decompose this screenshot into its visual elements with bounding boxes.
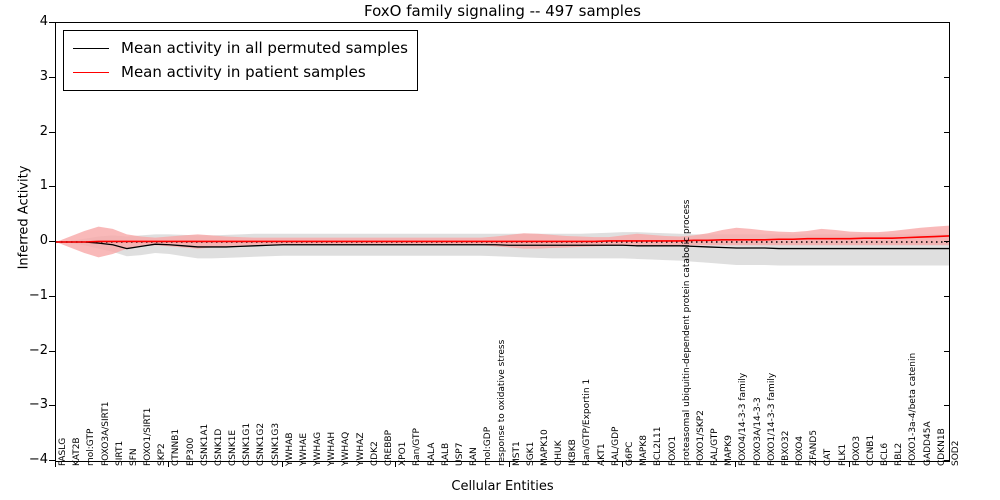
x-tick-label: CREBBP <box>385 430 394 466</box>
x-tick-label: AKT1 <box>598 443 607 466</box>
x-axis-title: Cellular Entities <box>55 479 950 494</box>
x-tick-label: RAN <box>470 447 479 466</box>
x-tick-label: YWHAH <box>328 432 337 466</box>
x-tick-mark <box>168 462 169 467</box>
y-tick-mark <box>49 460 55 461</box>
x-tick-label: RAL/GTP <box>711 428 720 466</box>
x-tick-mark <box>849 462 850 467</box>
x-tick-label: CDKN1B <box>938 428 947 466</box>
x-tick-label: G6PC <box>626 442 635 466</box>
y-tick-mark-right <box>944 296 950 297</box>
x-tick-label: YWHAQ <box>342 432 351 466</box>
x-tick-label: RBL2 <box>895 443 904 466</box>
x-tick-label: mol:GTP <box>87 429 96 466</box>
y-tick-mark-right <box>944 22 950 23</box>
x-tick-label: FOXO3A/14-3-3 <box>754 397 763 466</box>
legend-item-permuted: Mean activity in all permuted samples <box>73 36 408 60</box>
x-tick-label: CSNK1G1 <box>243 423 252 466</box>
x-tick-label: MST1 <box>513 441 522 466</box>
x-tick-label: XPO1 <box>399 442 408 466</box>
x-tick-label: CTNNB1 <box>172 429 181 466</box>
x-tick-label: CSNK1G3 <box>272 423 281 466</box>
x-tick-label: RALA <box>428 443 437 466</box>
x-tick-label: FOXO4/14-3-3 family <box>739 373 748 466</box>
x-tick-label: MAPK8 <box>640 435 649 466</box>
y-tick-label: −2 <box>8 344 48 357</box>
x-tick-label: CSNK1A1 <box>201 424 210 466</box>
x-tick-label: CAT <box>824 449 833 466</box>
y-tick-mark <box>49 351 55 352</box>
x-tick-label: CCNB1 <box>867 435 876 466</box>
legend-label-patient: Mean activity in patient samples <box>121 65 366 80</box>
chart-legend: Mean activity in all permuted samples Me… <box>63 30 418 91</box>
y-tick-mark <box>49 77 55 78</box>
y-axis-title: Inferred Activity <box>17 0 32 438</box>
legend-item-patient: Mean activity in patient samples <box>73 60 408 84</box>
y-tick-mark-right <box>944 351 950 352</box>
x-tick-label: YWHAZ <box>357 433 366 467</box>
legend-swatch-red-line-icon <box>73 72 109 73</box>
x-tick-label: RALB <box>442 443 451 466</box>
y-tick-mark-right <box>944 241 950 242</box>
x-tick-label: YWHAE <box>300 433 309 466</box>
x-tick-label: mol:GDP <box>484 427 493 466</box>
x-tick-label: MAPK10 <box>541 429 550 466</box>
x-tick-label: IKBKB <box>569 439 578 466</box>
chart-title: FoxO family signaling -- 497 samples <box>55 2 950 20</box>
x-tick-label: USP7 <box>456 443 465 466</box>
x-tick-mark <box>622 462 623 467</box>
x-tick-label: GADD45A <box>924 421 933 466</box>
x-tick-label: SIRT1 <box>116 441 125 466</box>
y-tick-mark-right <box>944 77 950 78</box>
x-tick-label: FOXO3 <box>853 436 862 466</box>
y-tick-label: 1 <box>8 179 48 192</box>
x-tick-label: FOXO1/SIRT1 <box>144 408 153 466</box>
x-tick-mark <box>735 462 736 467</box>
y-tick-mark <box>49 132 55 133</box>
y-tick-mark <box>49 241 55 242</box>
x-tick-label: PLK1 <box>839 444 848 466</box>
y-tick-mark-right <box>944 186 950 187</box>
x-tick-label: response to oxidative stress <box>498 340 507 466</box>
x-tick-label: FOXO3A/SIRT1 <box>102 402 111 466</box>
chart-figure: FoxO family signaling -- 497 samples Mea… <box>0 0 1000 500</box>
x-tick-label: CSNK1D <box>215 429 224 466</box>
x-tick-label: Ran/GTP/Exportin 1 <box>583 379 592 466</box>
x-tick-label: FOXO1/SKP2 <box>697 410 706 466</box>
x-tick-label: YWHAB <box>286 433 295 467</box>
y-tick-label: 4 <box>8 15 48 28</box>
x-tick-label: CDK2 <box>371 441 380 466</box>
y-tick-label: 3 <box>8 70 48 83</box>
legend-swatch-black-line-icon <box>73 48 109 49</box>
x-tick-label: FASLG <box>59 438 68 466</box>
y-tick-mark <box>49 186 55 187</box>
x-tick-label: YWHAG <box>314 432 323 466</box>
x-tick-label: FOXO1/14-3-3 family <box>768 373 777 466</box>
y-tick-mark <box>49 22 55 23</box>
x-tick-label: SFN <box>130 448 139 466</box>
x-tick-mark <box>509 462 510 467</box>
x-tick-label: KAT2B <box>73 437 82 466</box>
y-tick-mark <box>49 405 55 406</box>
x-tick-label: EP300 <box>187 438 196 466</box>
x-tick-label: FBXO32 <box>782 431 791 466</box>
x-tick-label: FOXO1-3a-4/beta catenin <box>909 353 918 466</box>
x-tick-label: proteasomal ubiquitin-dependent protein … <box>683 200 692 466</box>
x-tick-mark <box>55 462 56 467</box>
x-tick-label: SGK1 <box>527 442 536 466</box>
legend-label-permuted: Mean activity in all permuted samples <box>121 41 408 56</box>
x-tick-mark <box>282 462 283 467</box>
x-tick-label: CSNK1G2 <box>257 423 266 466</box>
y-tick-label: −3 <box>8 398 48 411</box>
x-tick-label: CHUK <box>555 440 564 466</box>
y-tick-label: −1 <box>8 289 48 302</box>
x-tick-label: Ran/GTP <box>413 428 422 466</box>
x-tick-label: RAL/GDP <box>612 427 621 466</box>
x-tick-label: MAPK9 <box>725 435 734 466</box>
y-tick-label: 2 <box>8 125 48 138</box>
x-tick-label: BCL6 <box>881 443 890 466</box>
x-tick-label: CSNK1E <box>229 430 238 466</box>
x-tick-label: ZFAND5 <box>810 430 819 466</box>
x-tick-label: FOXO4 <box>796 436 805 466</box>
x-tick-label: BCL2L11 <box>654 426 663 466</box>
y-tick-mark-right <box>944 132 950 133</box>
x-tick-mark <box>395 462 396 467</box>
y-tick-mark-right <box>944 405 950 406</box>
x-tick-label: SKP2 <box>158 443 167 466</box>
y-tick-mark <box>49 296 55 297</box>
x-tick-label: SOD2 <box>952 441 961 466</box>
x-tick-label: FOXO1 <box>669 436 678 466</box>
y-tick-label: 0 <box>8 234 48 247</box>
y-tick-label: −4 <box>8 453 48 466</box>
